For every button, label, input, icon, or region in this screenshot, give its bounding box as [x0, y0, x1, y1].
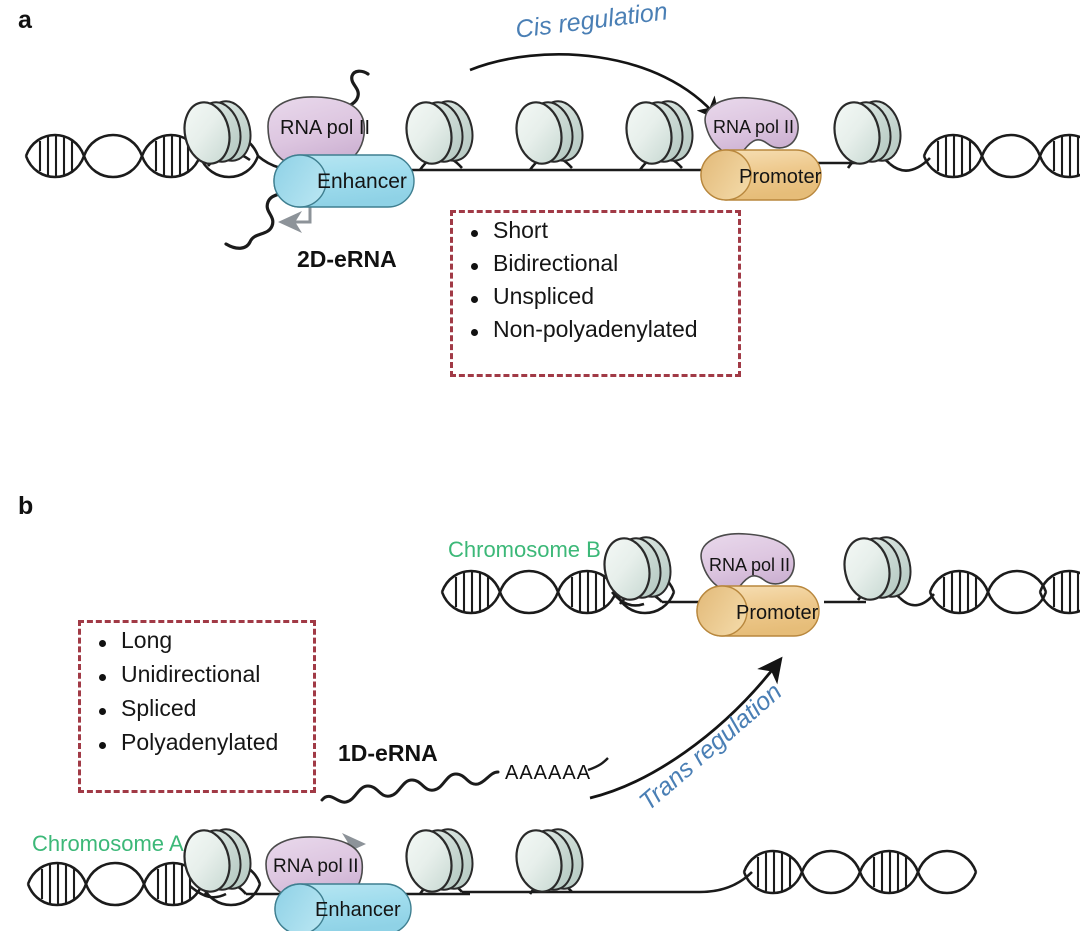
panel-label-a: a — [18, 6, 32, 35]
polya-tail-label: AAAAAA — [505, 762, 591, 785]
properties-box-1d-erna: Long Unidirectional Spliced Polyadenylat… — [78, 620, 316, 793]
promoter-label: Promoter — [736, 602, 819, 624]
list-item: Short — [467, 219, 698, 242]
properties-list-1d-erna: Long Unidirectional Spliced Polyadenylat… — [95, 629, 278, 765]
list-item: Long — [95, 629, 278, 652]
enhancer-label: Enhancer — [317, 170, 407, 193]
figure-root: RNA pol II Enhancer RNA pol II Promoter — [0, 0, 1080, 931]
list-item: Spliced — [95, 697, 278, 720]
properties-box-2d-erna: Short Bidirectional Unspliced Non-polyad… — [450, 210, 741, 377]
nucleosome — [511, 97, 588, 168]
dna-helix-a2-right — [744, 851, 976, 893]
rna-pol-ii-label: RNA pol II — [280, 117, 370, 139]
rna-pol-ii-label: RNA pol II — [713, 117, 794, 137]
rna-pol-ii-label: RNA pol II — [273, 856, 359, 877]
dna-helix-b-right — [930, 571, 1080, 613]
nucleosome — [401, 97, 478, 168]
erna-label-1d: 1D-eRNA — [338, 740, 438, 767]
nucleosome — [829, 97, 906, 168]
erna-label-2d: 2D-eRNA — [297, 246, 397, 273]
list-item: Unidirectional — [95, 663, 278, 686]
list-item: Unspliced — [467, 285, 698, 308]
nucleosome — [839, 533, 916, 604]
nucleosome — [401, 825, 478, 896]
nucleosome — [621, 97, 698, 168]
erna-squiggle-b — [322, 772, 498, 802]
promoter-label: Promoter — [739, 166, 822, 188]
panel-label-b: b — [18, 492, 33, 521]
list-item: Polyadenylated — [95, 731, 278, 754]
nucleosome — [511, 825, 588, 896]
enhancer-label: Enhancer — [315, 899, 401, 921]
nucleosome — [599, 533, 676, 604]
dna-helix-a-right — [924, 135, 1080, 177]
rna-pol-ii-label: RNA pol II — [709, 555, 790, 575]
list-item: Non-polyadenylated — [467, 318, 698, 341]
chromosome-a-label: Chromosome A — [32, 831, 184, 857]
chromosome-b-label: Chromosome B — [448, 537, 601, 563]
properties-list-2d-erna: Short Bidirectional Unspliced Non-polyad… — [467, 219, 698, 351]
list-item: Bidirectional — [467, 252, 698, 275]
